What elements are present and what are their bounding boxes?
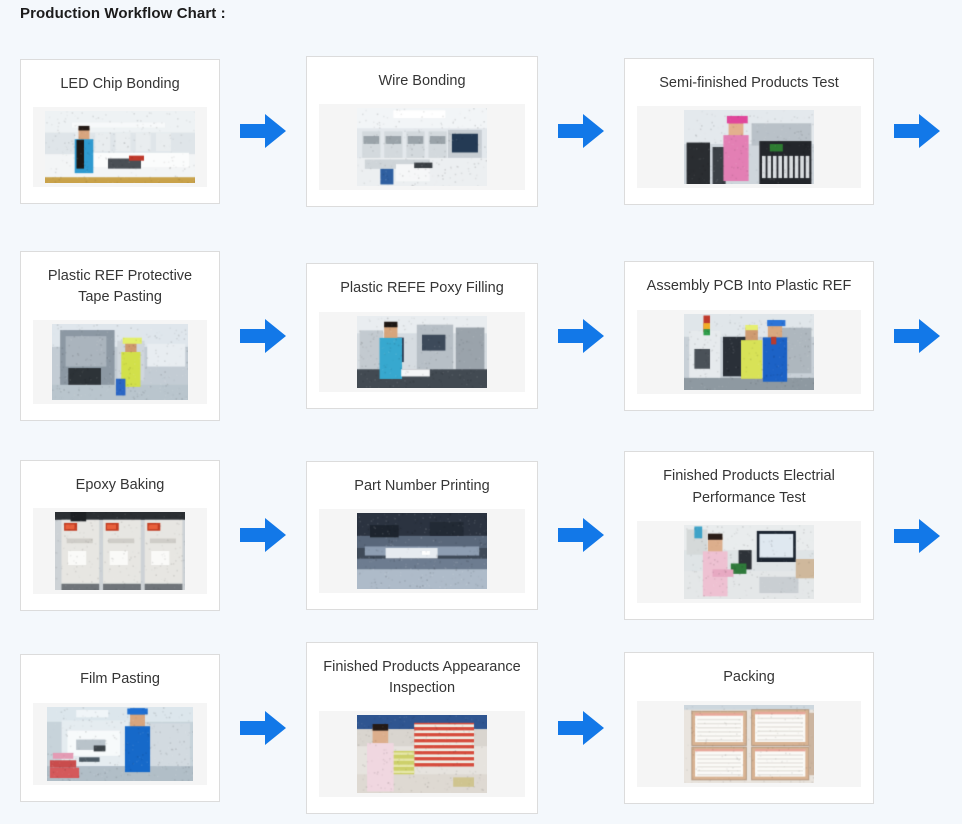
workflow-step-label: LED Chip Bonding <box>33 74 207 95</box>
workflow-arrow <box>538 709 624 747</box>
workflow-step-cell: Plastic REFE Poxy Filling <box>306 263 624 408</box>
workflow-step-cell: Finished Products Appearance Inspection <box>306 642 624 814</box>
workflow-step-photo <box>357 316 487 388</box>
workflow-step-photo-strip <box>637 106 861 188</box>
workflow-step-photo-strip <box>33 508 207 594</box>
workflow-step-cell: Wire Bonding <box>306 56 624 207</box>
workflow-step-card[interactable]: Wire Bonding <box>306 56 538 207</box>
workflow-step-photo-strip <box>319 711 525 797</box>
workflow-step-card[interactable]: Assembly PCB Into Plastic REF <box>624 261 874 410</box>
workflow-step-photo <box>52 324 188 400</box>
workflow-arrow <box>220 112 306 150</box>
workflow-step-card[interactable]: Plastic REFE Poxy Filling <box>306 263 538 408</box>
workflow-arrow <box>538 317 624 355</box>
workflow-step-photo <box>47 707 193 781</box>
workflow-arrow <box>538 112 624 150</box>
workflow-step-label: Packing <box>637 667 861 688</box>
workflow-step-label: Semi-finished Products Test <box>637 73 861 94</box>
workflow-step-photo <box>55 512 185 590</box>
workflow-step-card[interactable]: Epoxy Baking <box>20 460 220 611</box>
workflow-step-label: Part Number Printing <box>319 476 525 497</box>
workflow-step-label: Epoxy Baking <box>33 475 207 496</box>
workflow-step-photo-strip <box>637 701 861 787</box>
workflow-step-photo <box>357 513 487 589</box>
workflow-step-card[interactable]: Finished Products Appearance Inspection <box>306 642 538 814</box>
workflow-step-label: Plastic REF Protective Tape Pasting <box>33 266 207 308</box>
workflow-rows: LED Chip BondingWire BondingSemi-finishe… <box>0 30 962 824</box>
workflow-step-photo-strip <box>319 312 525 392</box>
workflow-step-card[interactable]: Part Number Printing <box>306 461 538 610</box>
workflow-step-label: Assembly PCB Into Plastic REF <box>637 276 861 297</box>
workflow-step-photo-strip <box>637 521 861 603</box>
workflow-step-photo <box>357 108 487 186</box>
workflow-step-cell: Packing <box>624 652 960 803</box>
workflow-step-photo <box>684 110 814 184</box>
workflow-step-label: Finished Products Electrial Performance … <box>637 466 861 508</box>
workflow-step-card[interactable]: Finished Products Electrial Performance … <box>624 451 874 619</box>
workflow-step-photo-strip <box>319 509 525 593</box>
workflow-row: LED Chip BondingWire BondingSemi-finishe… <box>0 30 962 233</box>
page-title: Production Workflow Chart : <box>20 5 226 22</box>
workflow-arrow <box>874 517 960 555</box>
workflow-step-photo <box>684 705 814 783</box>
workflow-step-photo-strip <box>33 703 207 785</box>
workflow-step-photo <box>357 715 487 793</box>
workflow-step-photo <box>45 111 195 183</box>
workflow-step-label: Wire Bonding <box>319 71 525 92</box>
workflow-arrow <box>874 112 960 150</box>
workflow-step-label: Film Pasting <box>33 669 207 690</box>
workflow-step-photo-strip <box>33 107 207 187</box>
workflow-step-cell: Assembly PCB Into Plastic REF <box>624 261 960 410</box>
workflow-arrow <box>220 317 306 355</box>
workflow-row: Epoxy BakingPart Number PrintingFinished… <box>0 439 962 632</box>
workflow-row: Plastic REF Protective Tape PastingPlast… <box>0 233 962 439</box>
workflow-step-card[interactable]: Packing <box>624 652 874 803</box>
workflow-step-label: Finished Products Appearance Inspection <box>319 657 525 699</box>
workflow-step-photo-strip <box>637 310 861 394</box>
workflow-arrow <box>538 516 624 554</box>
workflow-row: Film PastingFinished Products Appearance… <box>0 632 962 824</box>
workflow-step-card[interactable]: LED Chip Bonding <box>20 59 220 204</box>
workflow-step-card[interactable]: Semi-finished Products Test <box>624 58 874 205</box>
workflow-step-photo-strip <box>33 320 207 404</box>
workflow-arrow <box>874 317 960 355</box>
workflow-step-cell: Finished Products Electrial Performance … <box>624 451 960 619</box>
workflow-step-cell: Part Number Printing <box>306 461 624 610</box>
workflow-step-card[interactable]: Plastic REF Protective Tape Pasting <box>20 251 220 421</box>
workflow-step-photo <box>684 314 814 390</box>
workflow-step-cell: LED Chip Bonding <box>20 59 306 204</box>
workflow-step-cell: Film Pasting <box>20 654 306 801</box>
workflow-step-photo-strip <box>319 104 525 190</box>
workflow-step-cell: Semi-finished Products Test <box>624 58 960 205</box>
workflow-step-cell: Plastic REF Protective Tape Pasting <box>20 251 306 421</box>
workflow-step-cell: Epoxy Baking <box>20 460 306 611</box>
workflow-step-label: Plastic REFE Poxy Filling <box>319 278 525 299</box>
workflow-step-photo <box>684 525 814 599</box>
workflow-page: Production Workflow Chart : LED Chip Bon… <box>0 0 962 824</box>
workflow-arrow <box>220 516 306 554</box>
workflow-step-card[interactable]: Film Pasting <box>20 654 220 801</box>
workflow-arrow <box>220 709 306 747</box>
